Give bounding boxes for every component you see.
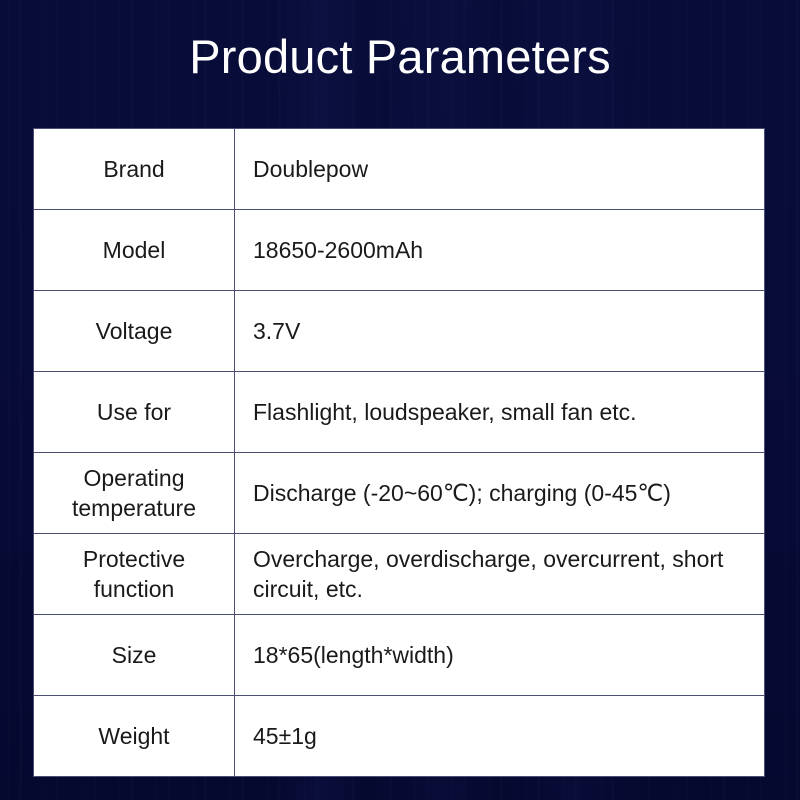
table-row: Size 18*65(length*width) — [34, 615, 765, 696]
parameter-label-size: Size — [34, 615, 235, 696]
parameter-label-voltage: Voltage — [34, 291, 235, 372]
table-row: Brand Doublepow — [34, 129, 765, 210]
parameter-value-model: 18650-2600mAh — [235, 210, 765, 291]
product-parameters-table: Brand Doublepow Model 18650-2600mAh Volt… — [33, 128, 765, 777]
parameter-value-operating-temperature: Discharge (-20~60℃); charging (0-45℃) — [235, 453, 765, 534]
parameter-value-use-for: Flashlight, loudspeaker, small fan etc. — [235, 372, 765, 453]
parameter-value-protective-function: Overcharge, overdischarge, overcurrent, … — [235, 534, 765, 615]
table-row: Use for Flashlight, loudspeaker, small f… — [34, 372, 765, 453]
product-parameters-page: Product Parameters Brand Doublepow Model… — [0, 0, 800, 800]
parameter-value-brand: Doublepow — [235, 129, 765, 210]
table-row: Model 18650-2600mAh — [34, 210, 765, 291]
table-row: Operating temperature Discharge (-20~60℃… — [34, 453, 765, 534]
parameter-label-protective-function: Protective function — [34, 534, 235, 615]
parameter-label-model: Model — [34, 210, 235, 291]
parameter-label-weight: Weight — [34, 696, 235, 777]
table-body: Brand Doublepow Model 18650-2600mAh Volt… — [34, 129, 765, 777]
parameter-label-use-for: Use for — [34, 372, 235, 453]
table-row: Protective function Overcharge, overdisc… — [34, 534, 765, 615]
parameter-value-weight: 45±1g — [235, 696, 765, 777]
table-row: Voltage 3.7V — [34, 291, 765, 372]
parameter-value-size: 18*65(length*width) — [235, 615, 765, 696]
parameter-value-voltage: 3.7V — [235, 291, 765, 372]
table-row: Weight 45±1g — [34, 696, 765, 777]
parameter-label-brand: Brand — [34, 129, 235, 210]
page-title: Product Parameters — [0, 27, 800, 87]
parameter-label-operating-temperature: Operating temperature — [34, 453, 235, 534]
